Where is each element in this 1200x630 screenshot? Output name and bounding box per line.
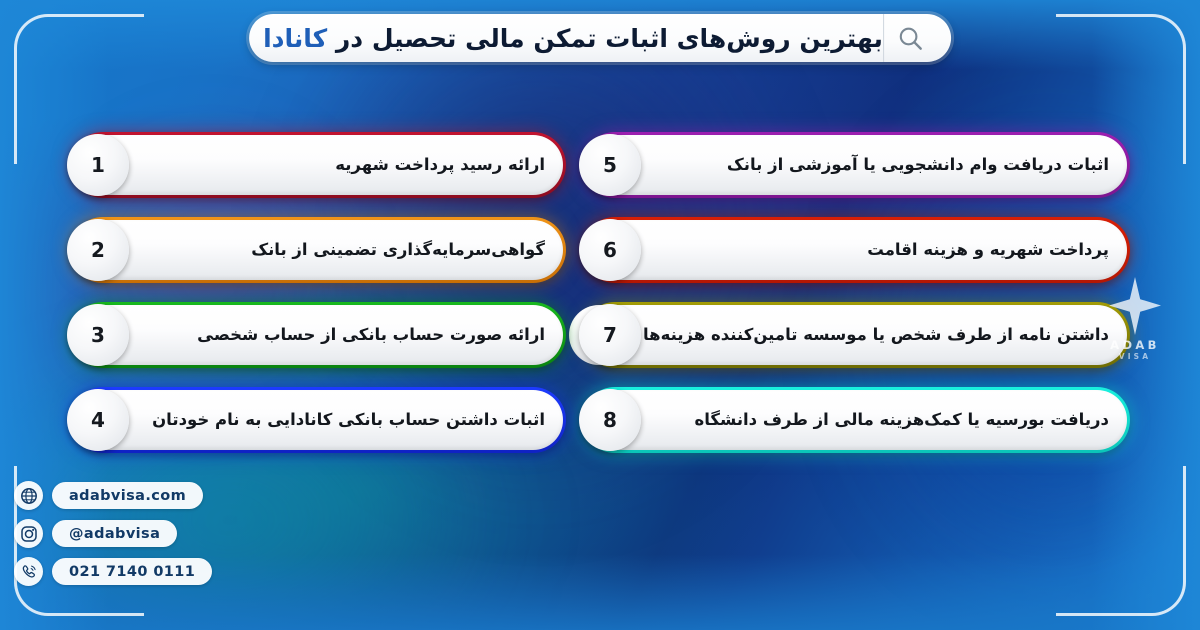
list-item-face: گواهی‌سرمایه‌گذاری تضمینی از بانک [73, 220, 563, 280]
globe-icon [14, 481, 43, 510]
list-item-label: اثبات دریافت وام دانشجویی یا آموزشی از ب… [727, 156, 1109, 175]
list-item-badge: 8 [579, 389, 641, 451]
list-item-badge: 2 [67, 219, 129, 281]
list-item-badge: 1 [67, 134, 129, 196]
list-item-badge: 6 [579, 219, 641, 281]
list-item-number: 3 [91, 323, 105, 347]
list-item-label: گواهی‌سرمایه‌گذاری تضمینی از بانک [251, 241, 545, 260]
list-item-label: اثبات داشتن حساب بانکی کانادایی به نام خ… [152, 411, 545, 430]
list-item-badge: 3 [67, 304, 129, 366]
list-item-label: ارائه صورت حساب بانکی از حساب شخصی [197, 326, 545, 345]
list-item-number: 6 [603, 238, 617, 262]
list-item-badge: 5 [579, 134, 641, 196]
list-item-badge: 7 [579, 304, 641, 366]
title-search-bar: بهترین روش‌های اثبات تمکن مالی تحصیل در … [249, 14, 951, 62]
list-item-number: 2 [91, 238, 105, 262]
list-item-number: 5 [603, 153, 617, 177]
phone-icon [14, 557, 43, 586]
list-item-face: اثبات داشتن حساب بانکی کانادایی به نام خ… [73, 390, 563, 450]
list-item-number: 7 [603, 323, 617, 347]
frame-corner-bottom-right [1056, 466, 1186, 616]
list-item-face: اثبات دریافت وام دانشجویی یا آموزشی از ب… [585, 135, 1127, 195]
list-item[interactable]: دریافت بورسیه یا کمک‌هزینه مالی از طرف د… [582, 387, 1130, 453]
page-title-main: بهترین روش‌های اثبات تمکن مالی تحصیل در [327, 24, 883, 53]
watermark-brand-sub: VISA [1119, 352, 1152, 361]
list-item-face: پرداخت شهریه و هزینه اقامت [585, 220, 1127, 280]
contact-list: adabvisa.com @adabvisa 021 7140 0111 [14, 481, 212, 586]
list-item-number: 4 [91, 408, 105, 432]
list-item-label: پرداخت شهریه و هزینه اقامت [867, 241, 1109, 260]
contact-phone-label: 021 7140 0111 [52, 558, 212, 585]
list-item-number: 8 [603, 408, 617, 432]
list-item-number: 1 [91, 153, 105, 177]
list-item[interactable]: ارائه رسید پرداخت شهریه 1 [70, 132, 566, 198]
list-item-face: ارائه صورت حساب بانکی از حساب شخصی [73, 305, 563, 365]
compass-star-icon [1108, 276, 1162, 336]
list-item-face: دریافت بورسیه یا کمک‌هزینه مالی از طرف د… [585, 390, 1127, 450]
list-item-face: ارائه رسید پرداخت شهریه [73, 135, 563, 195]
search-icon[interactable] [883, 14, 937, 62]
page-title-accent: کانادا [263, 24, 327, 53]
instagram-icon [14, 519, 43, 548]
page-title: بهترین روش‌های اثبات تمکن مالی تحصیل در … [249, 26, 883, 51]
contact-row-phone[interactable]: 021 7140 0111 [14, 557, 212, 586]
infographic-canvas: بهترین روش‌های اثبات تمکن مالی تحصیل در … [0, 0, 1200, 630]
contact-row-website[interactable]: adabvisa.com [14, 481, 212, 510]
contact-instagram-label: @adabvisa [52, 520, 177, 547]
list-item[interactable]: داشتن نامه از طرف شخص یا موسسه تامین‌کنن… [582, 302, 1130, 368]
column-left: اثبات دریافت وام دانشجویی یا آموزشی از ب… [582, 132, 1130, 453]
list-item-face: داشتن نامه از طرف شخص یا موسسه تامین‌کنن… [569, 305, 1127, 365]
items-grid: اثبات دریافت وام دانشجویی یا آموزشی از ب… [0, 132, 1200, 453]
list-item[interactable]: اثبات داشتن حساب بانکی کانادایی به نام خ… [70, 387, 566, 453]
list-item-label: دریافت بورسیه یا کمک‌هزینه مالی از طرف د… [695, 411, 1110, 430]
list-item-badge: 4 [67, 389, 129, 451]
contact-row-instagram[interactable]: @adabvisa [14, 519, 212, 548]
list-item-label: داشتن نامه از طرف شخص یا موسسه تامین‌کنن… [643, 326, 1109, 345]
list-item[interactable]: اثبات دریافت وام دانشجویی یا آموزشی از ب… [582, 132, 1130, 198]
list-item[interactable]: ارائه صورت حساب بانکی از حساب شخصی 3 [70, 302, 566, 368]
list-item[interactable]: گواهی‌سرمایه‌گذاری تضمینی از بانک 2 [70, 217, 566, 283]
column-right: ارائه رسید پرداخت شهریه 1 گواهی‌سرمایه‌گ… [70, 132, 566, 453]
contact-website-label: adabvisa.com [52, 482, 203, 509]
brand-watermark: ADAB VISA [1096, 276, 1174, 361]
list-item[interactable]: پرداخت شهریه و هزینه اقامت 6 [582, 217, 1130, 283]
watermark-brand-name: ADAB [1110, 338, 1160, 352]
list-item-label: ارائه رسید پرداخت شهریه [335, 156, 545, 175]
